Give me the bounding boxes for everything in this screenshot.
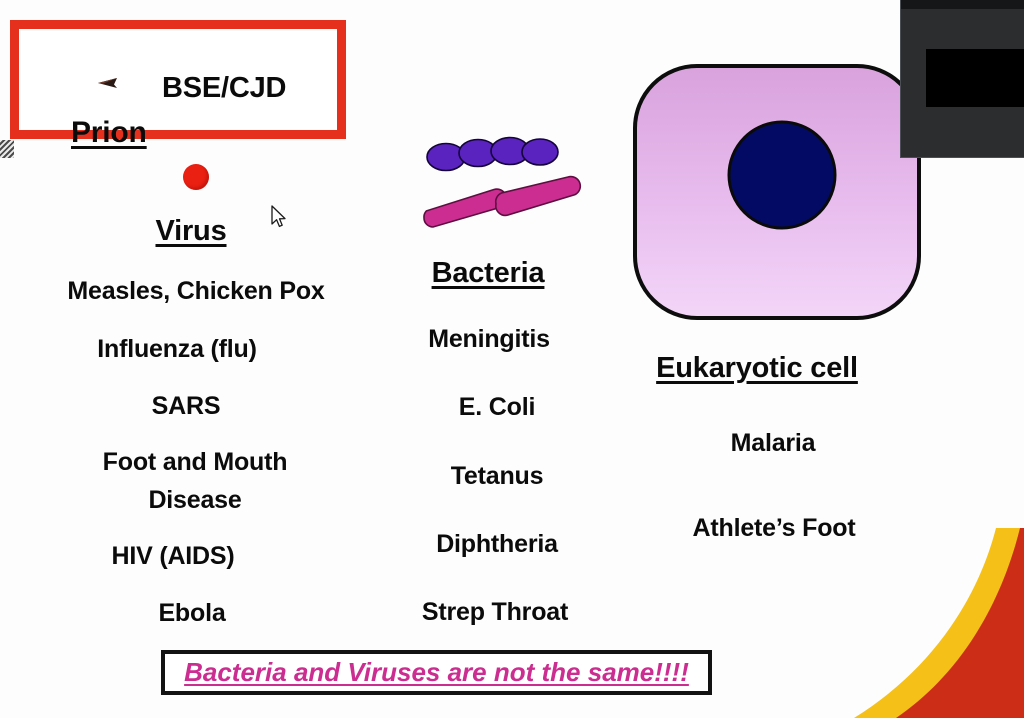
- virus-item-ebola: Ebola: [158, 599, 225, 628]
- banner-text: Bacteria and Viruses are not the same!!!…: [184, 657, 689, 688]
- slide-canvas: Prion BSE/CJD Virus Measles, Chicken Pox…: [0, 0, 1024, 718]
- bacteria-column-heading: Bacteria: [432, 257, 545, 290]
- virus-item-foot-and-mouth-line1: Foot and Mouth: [103, 448, 288, 477]
- eukaryote-column-heading: Eukaryotic cell: [656, 352, 858, 385]
- bacteria-item-meningitis: Meningitis: [428, 325, 550, 354]
- eukaryote-item-athletes-foot: Athlete’s Foot: [693, 514, 856, 543]
- virus-item-foot-and-mouth-line2: Disease: [148, 486, 241, 515]
- bacteria-item-ecoli: E. Coli: [459, 393, 535, 422]
- prion-heading: Prion: [71, 116, 147, 150]
- prion-protein-icon: [93, 75, 119, 93]
- virus-item-influenza: Influenza (flu): [97, 335, 256, 364]
- virus-column-heading: Virus: [155, 215, 226, 248]
- webcam-video-overlay[interactable]: [900, 0, 1024, 158]
- eukaryote-item-malaria: Malaria: [731, 429, 816, 458]
- bacteria-item-diphtheria: Diphtheria: [436, 530, 558, 559]
- banner-box: Bacteria and Viruses are not the same!!!…: [161, 650, 712, 695]
- webcam-resize-handle[interactable]: [0, 140, 14, 158]
- virus-item-measles: Measles, Chicken Pox: [67, 277, 324, 306]
- prion-disease-label: BSE/CJD: [162, 72, 286, 105]
- eukaryotic-cell-icon: [632, 63, 922, 321]
- bacteria-item-strep-throat: Strep Throat: [422, 598, 568, 627]
- prion-callout-box: Prion BSE/CJD: [10, 20, 346, 139]
- bacteria-item-tetanus: Tetanus: [451, 462, 544, 491]
- corner-swoosh-decoration: [824, 528, 1024, 718]
- virus-dot-icon: [183, 164, 209, 190]
- virus-item-hiv: HIV (AIDS): [111, 542, 234, 571]
- bacteria-cocci-bacilli-icon: [418, 132, 594, 232]
- mouse-pointer-cursor: [271, 205, 287, 229]
- webcam-video-screen: [926, 49, 1024, 107]
- virus-item-sars: SARS: [152, 392, 221, 421]
